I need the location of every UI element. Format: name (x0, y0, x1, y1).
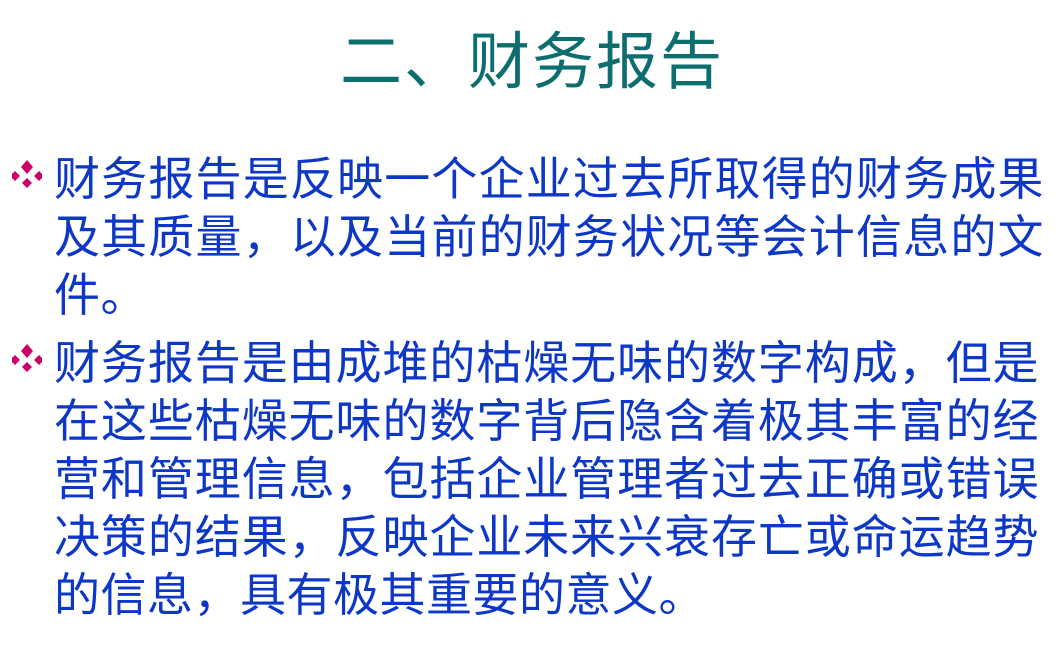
list-item-label: 财务报告是反映一个企业过去所取得的财务成果及其质量，以及当前的财务状况等会计信息… (54, 150, 1044, 324)
diamond-cluster-bullet-icon (12, 158, 42, 188)
list-item-label: 财务报告是由成堆的枯燥无味的数字构成，但是在这些枯燥无味的数字背后隐含着极其丰富… (54, 334, 1039, 624)
diamond-cluster-bullet-icon (12, 342, 42, 372)
page-title: 二、财务报告 (0, 26, 1064, 98)
slide-canvas: 二、财务报告 财务报告是反映一个企业过去所取得的财务成果及其质量，以及当前的财务… (0, 0, 1064, 657)
list-item: 财务报告是由成堆的枯燥无味的数字构成，但是在这些枯燥无味的数字背后隐含着极其丰富… (8, 334, 1056, 624)
bullet-list: 财务报告是反映一个企业过去所取得的财务成果及其质量，以及当前的财务状况等会计信息… (8, 150, 1056, 634)
list-item: 财务报告是反映一个企业过去所取得的财务成果及其质量，以及当前的财务状况等会计信息… (8, 150, 1056, 324)
